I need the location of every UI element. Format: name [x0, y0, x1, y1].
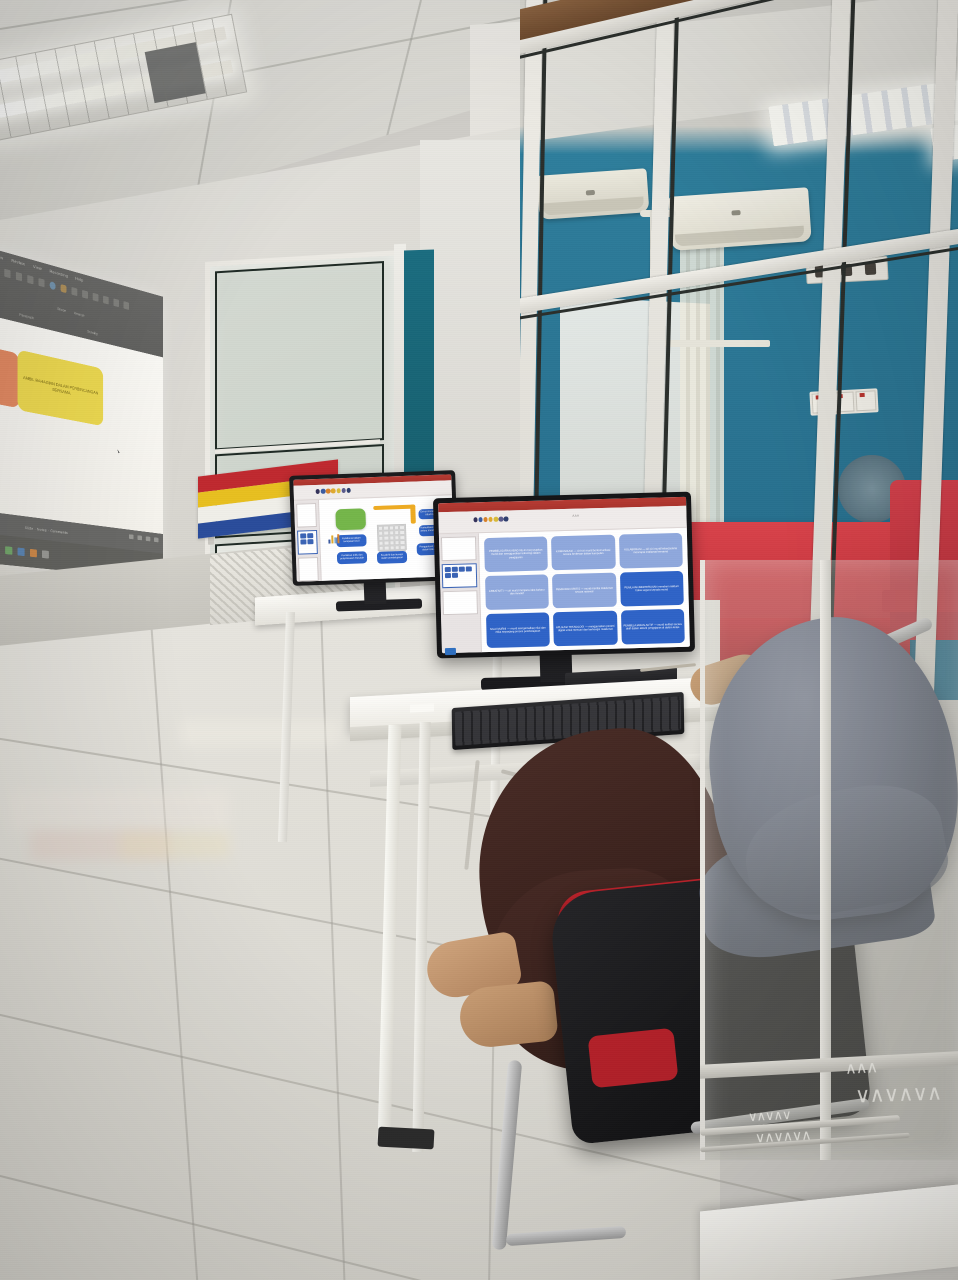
browser-icon	[18, 548, 25, 557]
glass-decal-zigzag-4: ∨∧∨∧∨∧	[755, 1127, 811, 1147]
air-conditioner-left	[537, 168, 650, 220]
glass-decal-zigzag-3: ∨∧∨∧∨	[748, 1107, 791, 1125]
slide-shape-orange	[374, 505, 416, 510]
projected-group-arrange: Arrange	[74, 311, 84, 317]
mouse-cursor-icon	[117, 449, 119, 455]
slide-shape-green	[336, 508, 366, 530]
slide-shape-orange-2	[410, 505, 416, 524]
projected-group-paragraph: Paragraph	[19, 313, 34, 321]
projected-tab-slideshow: Slide Show	[0, 250, 3, 261]
powerpoint-icon	[30, 549, 37, 557]
node-8: APLIKASI TEKNOLOGI — menggunakan peranti…	[553, 611, 617, 647]
projected-status-text: Slide · Notes · Comments	[25, 526, 68, 535]
explorer-icon	[5, 546, 12, 555]
projected-shape-yellow: AMBIL BAHAGIAN DALAM PERBINCANGAN BERSAM…	[18, 349, 104, 426]
projected-shape-orange	[0, 340, 19, 408]
desk-paper	[410, 703, 434, 712]
glass-decal-zigzag-2: ∨∧∨∧∨∧	[855, 1081, 942, 1109]
node-1: PEMBELAJARAN ABAD KE-21 berpusatkan muri…	[484, 536, 548, 572]
foreground-table	[700, 1184, 958, 1280]
slide-node-grid: PEMBELAJARAN ABAD KE-21 berpusatkan muri…	[484, 533, 685, 648]
glass-decal-zigzag-1: ∧∧∧	[844, 1057, 877, 1079]
photo-scene: Slide Show Review View Recording Help Sh…	[0, 0, 958, 1280]
node-3: KOLABORASI — ciri-ciri murid bekerjasama…	[619, 533, 683, 569]
projector-screen: Slide Show Review View Recording Help Sh…	[0, 244, 163, 580]
primary-monitor-screen[interactable]: AAA PEMBELAJARAN ABAD KE-21	[438, 497, 690, 653]
slide-node-3: Kolaborasi dalam kumpulan kecil	[337, 534, 367, 547]
projected-group-shape: Shape	[57, 307, 66, 313]
secondary-slide-thumbnails[interactable]	[294, 500, 322, 581]
slide-bar-chart-icon	[328, 533, 339, 543]
node-2: KOMUNIKASI — ciri-ciri murid berkomunika…	[551, 535, 615, 571]
monitor-brand-logo-icon	[445, 648, 456, 655]
projected-tab-recording: Recording	[50, 269, 68, 279]
slide-node-5: Kreativiti dan inovasi dalam pembelajara…	[376, 551, 407, 564]
projected-tab-view: View	[33, 264, 42, 271]
secondary-monitor-screen[interactable]: Ciri-ciri Pembelajaran Abad Ke-21 Komuni…	[293, 474, 454, 581]
node-6: PENILAIAN BERTERUSAN memberi maklum bala…	[620, 571, 684, 607]
teal-door[interactable]	[404, 249, 434, 482]
projected-tab-help: Help	[75, 276, 83, 283]
node-4: KREATIVITI — ciri murid menjana idea bah…	[485, 574, 549, 610]
primary-monitor[interactable]: AAA PEMBELAJARAN ABAD KE-21	[433, 492, 695, 659]
slide-shape-calendar	[377, 524, 407, 551]
primary-slide-canvas[interactable]: PEMBELAJARAN ABAD KE-21 berpusatkan muri…	[479, 528, 690, 653]
node-5: PEMIKIRAN KRITIS — murid menilai makluma…	[552, 573, 616, 609]
node-9: PEMBELAJARAN AKTIF — murid terlibat seca…	[620, 609, 684, 645]
node-7: NILAI MURNI — murid mengamalkan nilai da…	[486, 612, 550, 648]
projected-group-drawing: Drawing	[87, 330, 98, 336]
mail-icon	[42, 550, 49, 558]
air-conditioner	[668, 187, 811, 251]
slide-node-4: Pemikiran kritis dan penyelesaian masala…	[337, 551, 367, 564]
primary-slide-thumbnails[interactable]	[439, 533, 482, 653]
projected-tab-review: Review	[11, 258, 25, 267]
